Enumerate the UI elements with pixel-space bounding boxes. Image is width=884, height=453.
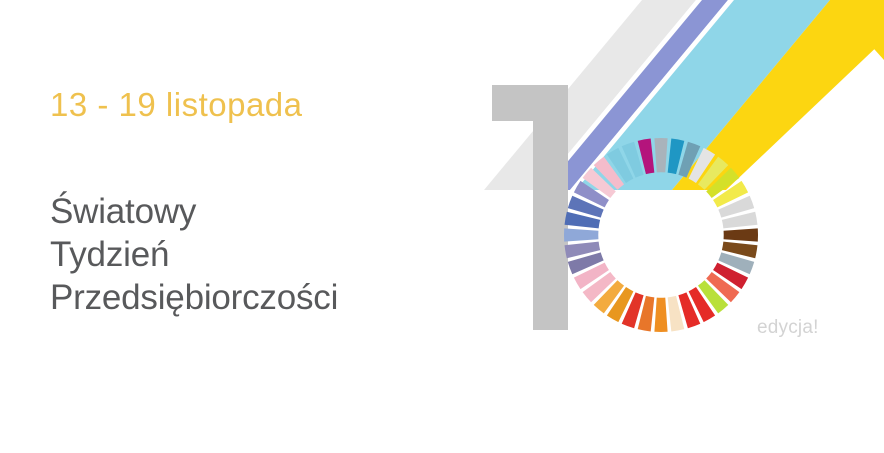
gew-ring-svg [563,137,759,333]
edition-numeral-one [492,85,568,335]
date-range: 13 - 19 listopada [50,86,303,124]
numeral-one-svg [492,85,568,330]
stripe-yellow-fill [830,0,884,60]
logo-bar: GLOBAL ENTREPRENEURSHIP WEEK Koordynator… [0,353,884,453]
edition-numeral-zero-ring [563,137,759,338]
poster-canvas: 13 - 19 listopada Światowy Tydzień Przed… [0,0,884,453]
title-line-1: Światowy [50,190,338,233]
title-line-3: Przedsiębiorczości [50,276,338,319]
page-title: Światowy Tydzień Przedsiębiorczości [50,190,338,319]
title-line-2: Tydzień [50,233,338,276]
edition-label: edycja! [757,317,819,339]
